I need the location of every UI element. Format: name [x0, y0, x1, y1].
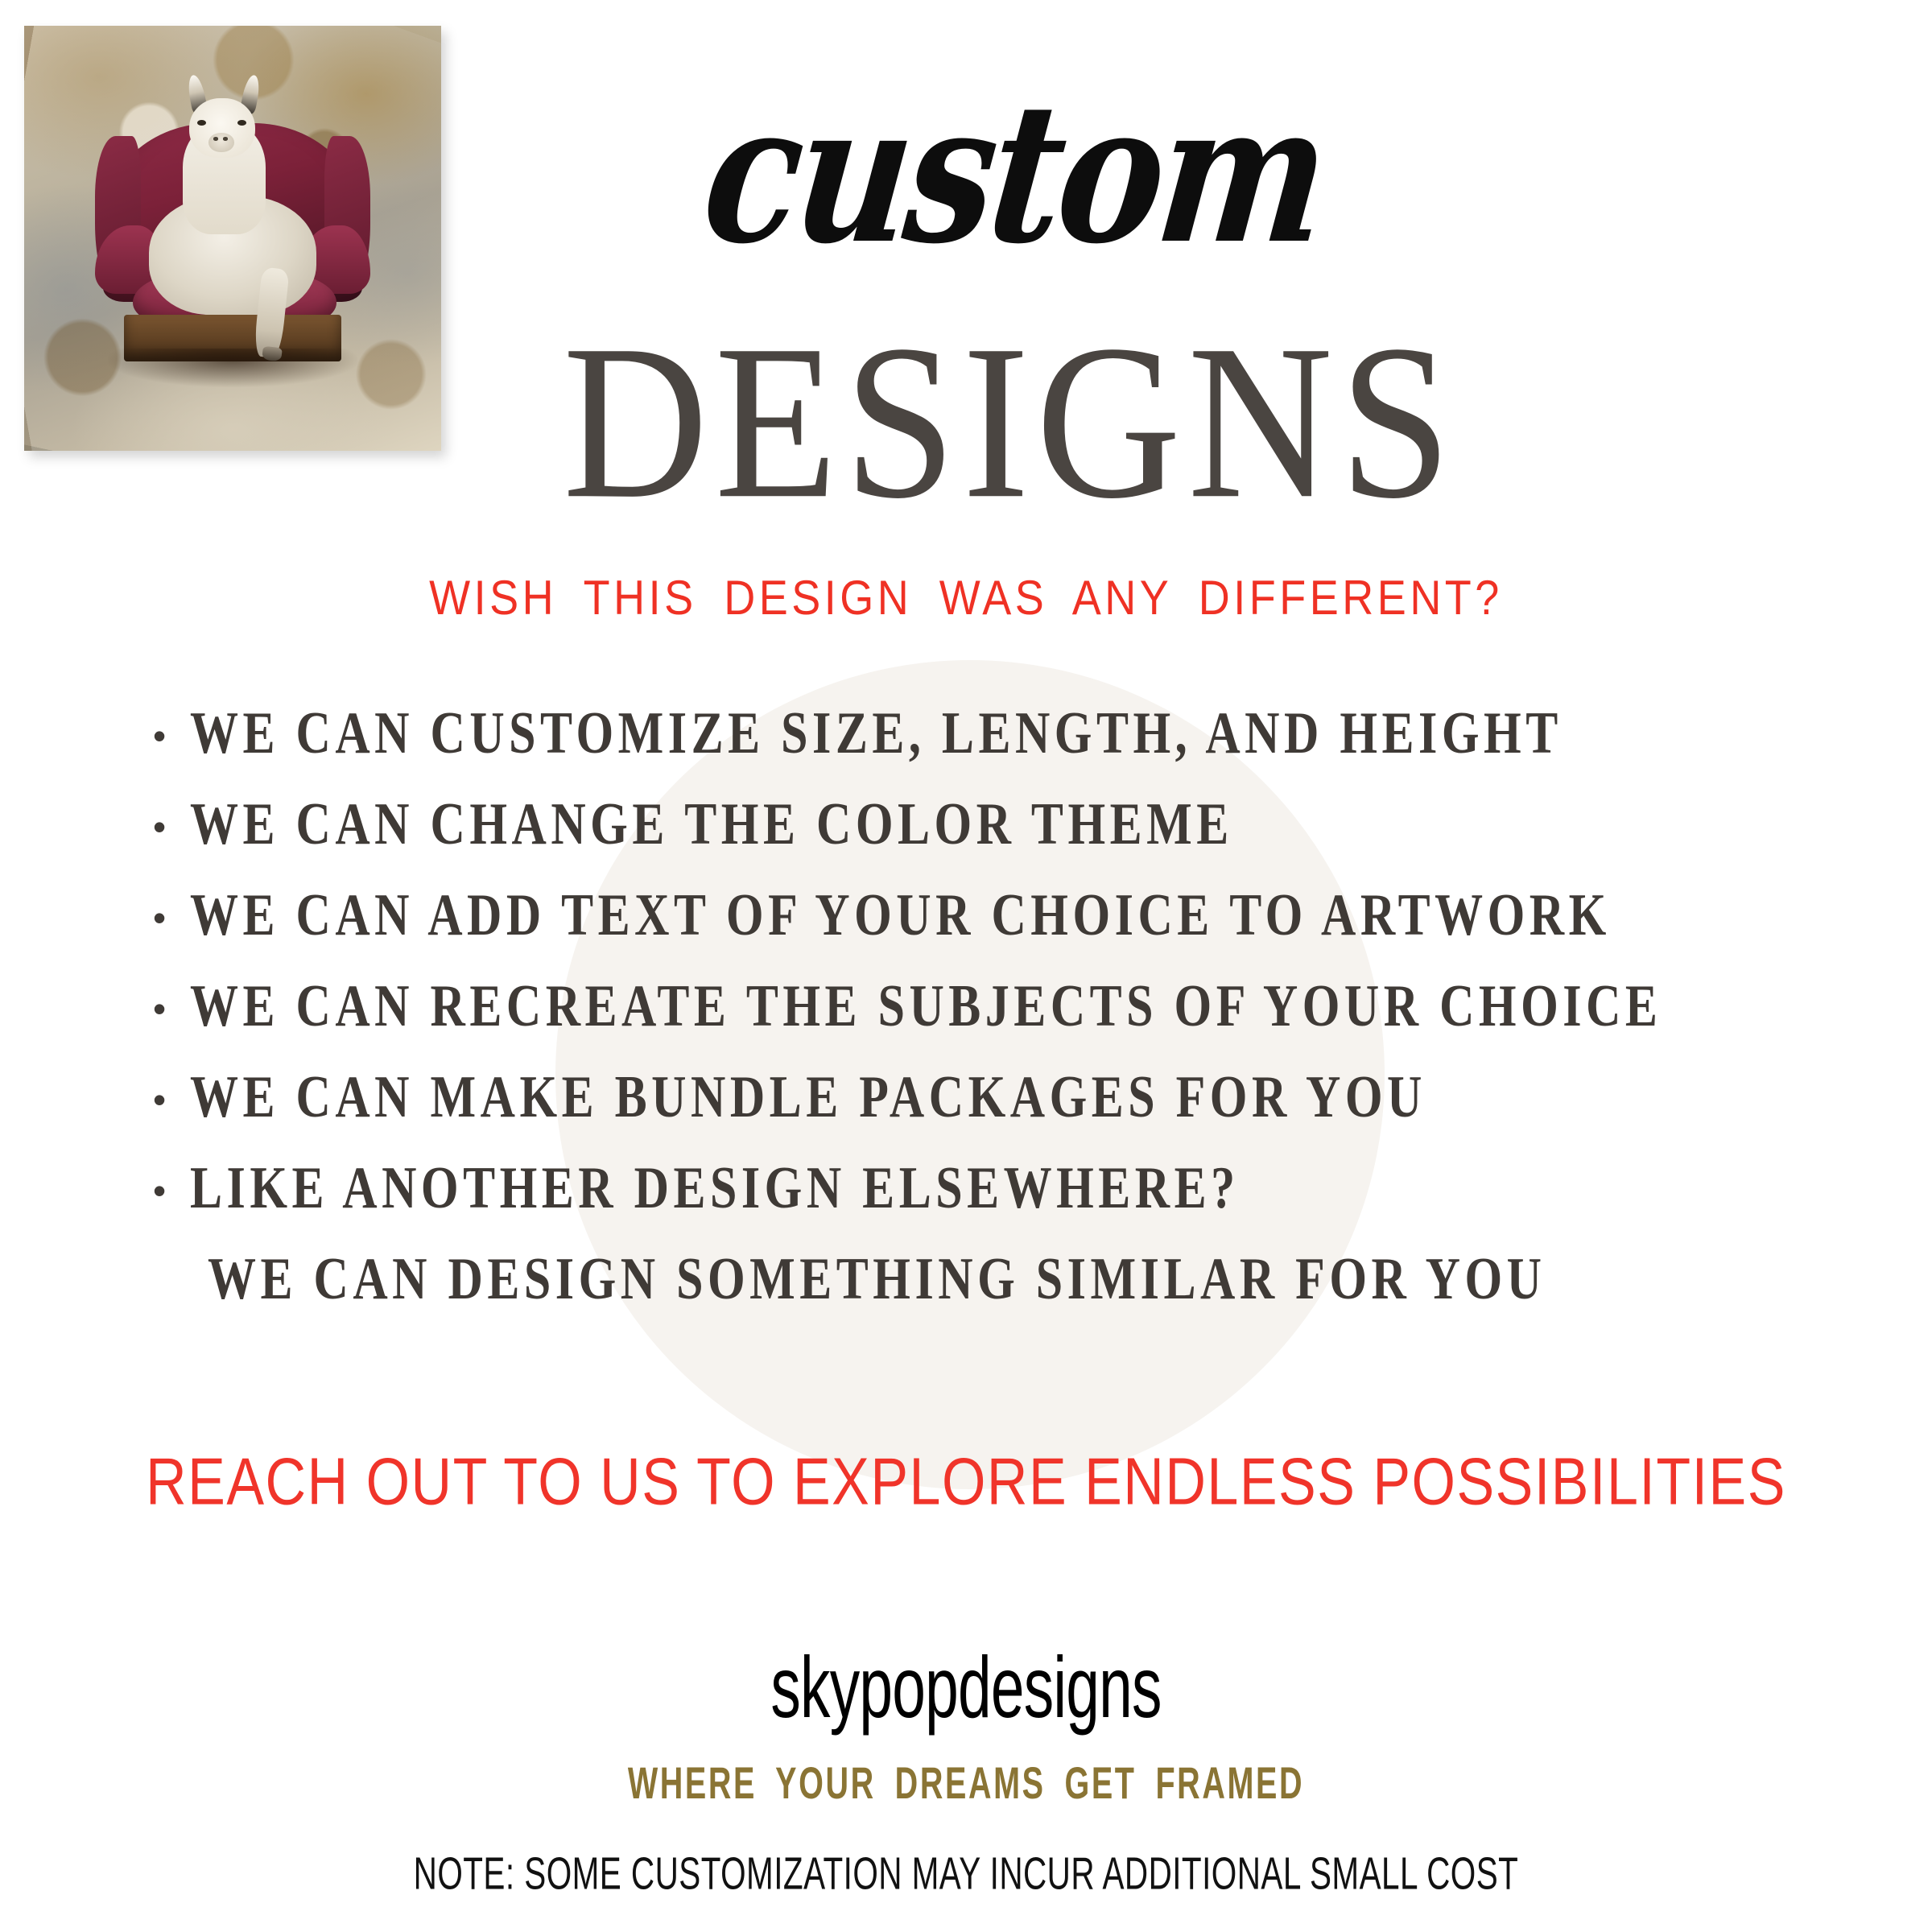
customization-options-list: • WE CAN CUSTOMIZE SIZE, LENGTH, AND HEI…	[153, 708, 1860, 1345]
list-item-label: WE CAN ADD TEXT OF YOUR CHOICE TO ARTWOR…	[190, 885, 1611, 944]
armchair-floor-shadow	[108, 349, 358, 387]
list-item: • WE CAN ADD TEXT OF YOUR CHOICE TO ARTW…	[153, 890, 1860, 981]
list-item-continuation: • WE CAN DESIGN SOMETHING SIMILAR FOR YO…	[153, 1254, 1860, 1345]
list-item-label: WE CAN MAKE BUNDLE PACKAGES FOR YOU	[190, 1067, 1426, 1126]
list-item-label: WE CAN RECREATE THE SUBJECTS OF YOUR CHO…	[190, 976, 1662, 1035]
bullet-dot-icon: •	[153, 1172, 190, 1209]
llama-hoof	[262, 345, 282, 361]
footnote-disclaimer: NOTE: SOME CUSTOMIZATION MAY INCUR ADDIT…	[116, 1847, 1816, 1900]
subtitle-question: WISH THIS DESIGN WAS ANY DIFFERENT?	[0, 570, 1932, 625]
call-to-action-text[interactable]: REACH OUT TO US TO EXPLORE ENDLESS POSSI…	[0, 1443, 1932, 1519]
llama-nostril-left	[213, 137, 218, 140]
custom-designs-poster: custom DESIGNS WISH THIS DESIGN WAS ANY …	[0, 0, 1932, 1932]
llama-armchair-painting	[24, 26, 441, 451]
list-item-label: WE CAN CHANGE THE COLOR THEME	[190, 794, 1233, 853]
bullet-dot-icon: •	[153, 717, 190, 754]
artwork-thumbnail[interactable]	[24, 26, 441, 451]
bullet-dot-icon: •	[153, 1081, 190, 1118]
bullet-dot-icon: •	[153, 808, 190, 845]
llama-eye-right	[237, 120, 246, 126]
list-item: • WE CAN CHANGE THE COLOR THEME	[153, 799, 1860, 890]
list-item-label: LIKE ANOTHER DESIGN ELSEWHERE?	[190, 1158, 1240, 1217]
brand-tagline: WHERE YOUR DREAMS GET FRAMED	[135, 1757, 1797, 1810]
llama-nostril-right	[223, 137, 228, 140]
list-item: • WE CAN MAKE BUNDLE PACKAGES FOR YOU	[153, 1072, 1860, 1163]
bullet-dot-icon: •	[153, 990, 190, 1027]
list-item-label: WE CAN CUSTOMIZE SIZE, LENGTH, AND HEIGH…	[190, 703, 1563, 762]
list-item-label: WE CAN DESIGN SOMETHING SIMILAR FOR YOU	[190, 1249, 1546, 1308]
llama-muzzle	[208, 133, 234, 152]
list-item: • WE CAN CUSTOMIZE SIZE, LENGTH, AND HEI…	[153, 708, 1860, 799]
brand-logo-text[interactable]: skypopdesigns	[213, 1638, 1719, 1737]
bullet-dot-icon: •	[153, 899, 190, 936]
list-item: • WE CAN RECREATE THE SUBJECTS OF YOUR C…	[153, 981, 1860, 1072]
list-item: • LIKE ANOTHER DESIGN ELSEWHERE?	[153, 1163, 1860, 1254]
